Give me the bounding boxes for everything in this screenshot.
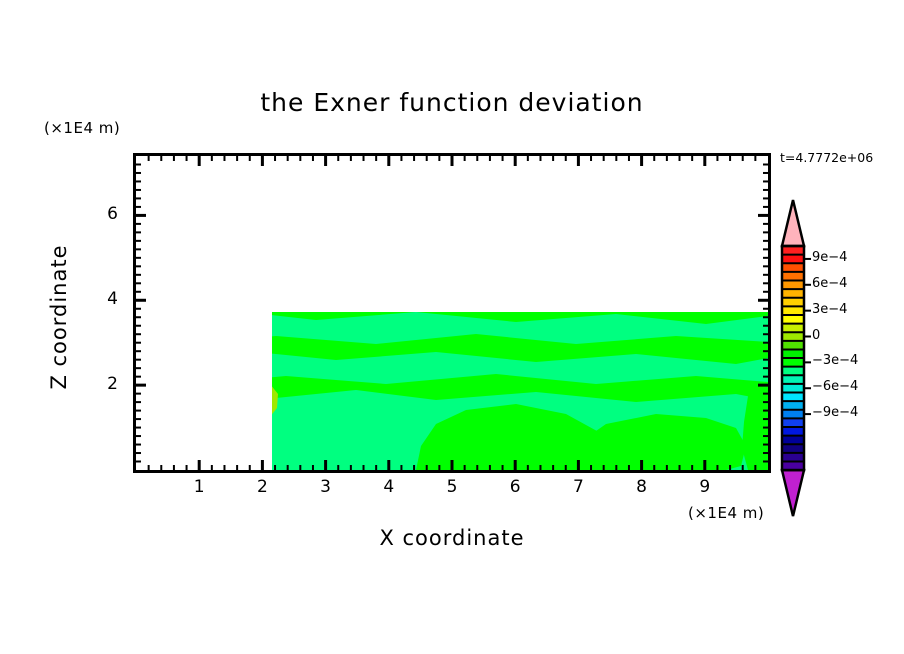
x-tick-label: 8 bbox=[622, 477, 662, 497]
colorbar-tick-label: −9e−4 bbox=[812, 405, 858, 420]
y-tick-label: 4 bbox=[96, 289, 118, 309]
x-tick-label: 2 bbox=[242, 477, 282, 497]
colorbar-under-arrow bbox=[782, 470, 804, 516]
x-tick-label: 5 bbox=[432, 477, 472, 497]
colorbar-tick-label: −3e−4 bbox=[812, 353, 858, 368]
y-tick-label: 2 bbox=[96, 374, 118, 394]
colorbar-tick-label: 9e−4 bbox=[812, 250, 847, 265]
colorbar-over-arrow bbox=[782, 200, 804, 246]
x-tick-label: 6 bbox=[495, 477, 535, 497]
x-tick-label: 7 bbox=[558, 477, 598, 497]
colorbar bbox=[0, 0, 904, 654]
colorbar-tick-label: 6e−4 bbox=[812, 276, 847, 291]
x-tick-label: 9 bbox=[685, 477, 725, 497]
x-tick-label: 4 bbox=[369, 477, 409, 497]
x-tick-label: 3 bbox=[306, 477, 346, 497]
colorbar-tick-label: 0 bbox=[812, 328, 820, 343]
colorbar-tick-label: −6e−4 bbox=[812, 379, 858, 394]
figure-canvas: the Exner function deviation (×1E4 m) (×… bbox=[0, 0, 904, 654]
y-tick-label: 6 bbox=[96, 204, 118, 224]
colorbar-tick-label: 3e−4 bbox=[812, 302, 847, 317]
x-tick-label: 1 bbox=[179, 477, 219, 497]
